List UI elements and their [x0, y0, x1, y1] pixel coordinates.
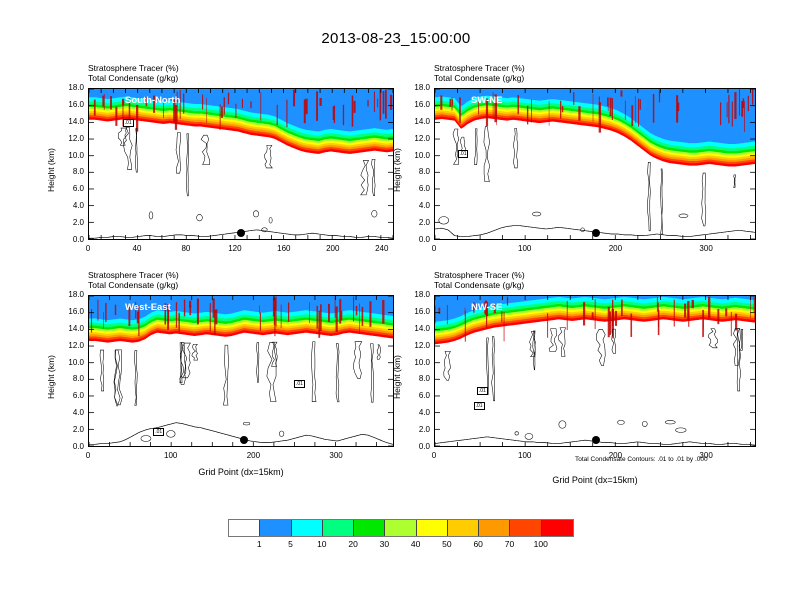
- contour-value-label: .01: [123, 119, 134, 127]
- x-tick-label: 160: [264, 244, 304, 253]
- panel-direction-label-nw-se: NW-SE: [471, 302, 502, 313]
- plot-area-south-north[interactable]: South-North.01: [88, 88, 394, 240]
- x-tick-label: 0: [68, 451, 108, 460]
- y-tick-label: 0.0: [56, 235, 84, 244]
- y-tick-label: 10.0: [402, 151, 430, 160]
- y-axis-title: Height (km): [392, 355, 402, 399]
- colorbar-segment: [417, 520, 448, 536]
- x-tick-label: 200: [233, 451, 273, 460]
- panel-header-west-east: Stratosphere Tracer (%)Total Condensate …: [88, 270, 179, 290]
- y-tick-label: 10.0: [56, 358, 84, 367]
- y-tick-label: 16.0: [402, 100, 430, 109]
- x-tick-label: 100: [151, 451, 191, 460]
- contour-value-label: .01: [474, 402, 485, 410]
- y-tick-label: 4.0: [56, 408, 84, 417]
- y-tick-label: 2.0: [56, 425, 84, 434]
- x-axis-title: Grid Point (dx=15km): [88, 467, 394, 477]
- y-tick-label: 12.0: [56, 341, 84, 350]
- y-tick-label: 12.0: [402, 341, 430, 350]
- y-tick-label: 6.0: [56, 184, 84, 193]
- colorbar-segment: [479, 520, 510, 536]
- y-tick-label: 16.0: [56, 307, 84, 316]
- y-tick-label: 8.0: [402, 374, 430, 383]
- y-tick-label: 10.0: [56, 151, 84, 160]
- y-axis-title: Height (km): [46, 148, 56, 192]
- y-tick-label: 4.0: [56, 201, 84, 210]
- y-tick-label: 18.0: [56, 83, 84, 92]
- x-tick-label: 0: [68, 244, 108, 253]
- y-axis-title: Height (km): [46, 355, 56, 399]
- x-tick-label: 0: [414, 244, 454, 253]
- contour-interval-note: Total Condensate Contours: .01 to .01 by…: [575, 456, 708, 463]
- y-tick-label: 12.0: [402, 134, 430, 143]
- condensate-units-label: Total Condensate (g/kg): [88, 73, 179, 83]
- colorbar-segment: [323, 520, 354, 536]
- panel-direction-label-south-north: South-North: [125, 95, 180, 106]
- y-tick-label: 6.0: [56, 391, 84, 400]
- y-tick-label: 6.0: [402, 391, 430, 400]
- y-tick-label: 16.0: [56, 100, 84, 109]
- y-tick-label: 14.0: [402, 117, 430, 126]
- x-tick-label: 0: [414, 451, 454, 460]
- colorbar-tick-label: 100: [521, 539, 561, 549]
- contour-value-label: .01: [294, 380, 305, 388]
- plot-area-west-east[interactable]: West-East.01.01: [88, 295, 394, 447]
- colorbar-segment: [354, 520, 385, 536]
- panel-direction-label-sw-ne: SW-NE: [471, 95, 502, 106]
- x-axis-title: Grid Point (dx=15km): [434, 475, 756, 485]
- y-tick-label: 12.0: [56, 134, 84, 143]
- condensate-units-label: Total Condensate (g/kg): [434, 280, 525, 290]
- y-tick-label: 8.0: [402, 167, 430, 176]
- x-tick-label: 240: [362, 244, 402, 253]
- figure-title: 2013-08-23_15:00:00: [0, 30, 792, 47]
- colorbar-segment: [260, 520, 291, 536]
- y-tick-label: 2.0: [402, 218, 430, 227]
- figure-canvas: 2013-08-23_15:00:00 Stratosphere Tracer …: [0, 0, 792, 612]
- x-tick-label: 300: [316, 451, 356, 460]
- y-tick-label: 4.0: [402, 408, 430, 417]
- y-tick-label: 16.0: [402, 307, 430, 316]
- x-tick-label: 40: [117, 244, 157, 253]
- x-tick-label: 300: [686, 244, 726, 253]
- panel-header-nw-se: Stratosphere Tracer (%)Total Condensate …: [434, 270, 525, 290]
- x-tick-label: 100: [505, 244, 545, 253]
- condensate-units-label: Total Condensate (g/kg): [88, 280, 179, 290]
- y-tick-label: 6.0: [402, 184, 430, 193]
- tracer-units-label: Stratosphere Tracer (%): [88, 270, 179, 280]
- y-axis-title: Height (km): [392, 148, 402, 192]
- contour-value-label: .01: [458, 150, 469, 158]
- colorbar-segment: [448, 520, 479, 536]
- colorbar-segment: [385, 520, 416, 536]
- plot-area-nw-se[interactable]: NW-SE.01.01: [434, 295, 756, 447]
- y-tick-label: 8.0: [56, 374, 84, 383]
- colorbar-segment: [542, 520, 573, 536]
- y-tick-label: 14.0: [56, 324, 84, 333]
- y-tick-label: 0.0: [56, 442, 84, 451]
- x-tick-label: 200: [595, 244, 635, 253]
- y-tick-label: 14.0: [402, 324, 430, 333]
- colorbar: [228, 519, 574, 537]
- colorbar-segment: [292, 520, 323, 536]
- x-tick-label: 100: [505, 451, 545, 460]
- y-tick-label: 4.0: [402, 201, 430, 210]
- tracer-units-label: Stratosphere Tracer (%): [88, 63, 179, 73]
- y-tick-label: 2.0: [56, 218, 84, 227]
- panel-direction-label-west-east: West-East: [125, 302, 171, 313]
- tracer-units-label: Stratosphere Tracer (%): [434, 270, 525, 280]
- location-marker-dot: [240, 436, 248, 444]
- contour-value-label: .01: [477, 387, 488, 395]
- condensate-units-label: Total Condensate (g/kg): [434, 73, 525, 83]
- colorbar-segment: [510, 520, 541, 536]
- location-marker-dot: [237, 229, 245, 237]
- y-tick-label: 0.0: [402, 235, 430, 244]
- contour-value-label: .01: [153, 428, 164, 436]
- colorbar-segment: [229, 520, 260, 536]
- y-tick-label: 18.0: [402, 290, 430, 299]
- y-tick-label: 8.0: [56, 167, 84, 176]
- panel-header-sw-ne: Stratosphere Tracer (%)Total Condensate …: [434, 63, 525, 83]
- y-tick-label: 2.0: [402, 425, 430, 434]
- x-tick-label: 120: [215, 244, 255, 253]
- y-tick-label: 14.0: [56, 117, 84, 126]
- plot-area-sw-ne[interactable]: SW-NE.01: [434, 88, 756, 240]
- y-tick-label: 18.0: [402, 83, 430, 92]
- y-tick-label: 0.0: [402, 442, 430, 451]
- y-tick-label: 18.0: [56, 290, 84, 299]
- tracer-units-label: Stratosphere Tracer (%): [434, 63, 525, 73]
- x-tick-label: 80: [166, 244, 206, 253]
- x-tick-label: 200: [313, 244, 353, 253]
- y-tick-label: 10.0: [402, 358, 430, 367]
- panel-header-south-north: Stratosphere Tracer (%)Total Condensate …: [88, 63, 179, 83]
